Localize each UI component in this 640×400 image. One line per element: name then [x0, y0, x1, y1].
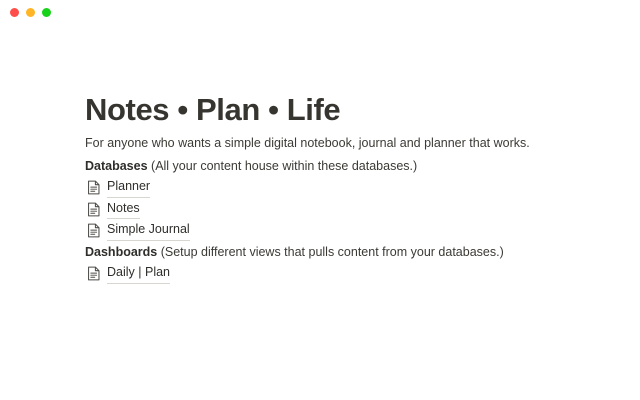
app-window: Notes • Plan • Life For anyone who wants… — [0, 0, 640, 400]
page-link-planner[interactable]: Planner — [87, 178, 150, 198]
page-link-label: Daily | Plan — [107, 264, 170, 284]
page-link-label: Notes — [107, 200, 140, 220]
document-icon — [87, 180, 101, 195]
page-subtitle: For anyone who wants a simple digital no… — [85, 134, 530, 152]
maximize-window-icon[interactable] — [42, 8, 51, 17]
section-heading-dashboards: Dashboards (Setup different views that p… — [85, 243, 504, 261]
window-controls — [10, 8, 51, 17]
document-icon — [87, 266, 101, 281]
document-icon — [87, 202, 101, 217]
section-heading-label: Databases — [85, 159, 148, 173]
page-link-simple-journal[interactable]: Simple Journal — [87, 221, 190, 241]
close-window-icon[interactable] — [10, 8, 19, 17]
page-link-label: Planner — [107, 178, 150, 198]
section-heading-description: (Setup different views that pulls conten… — [161, 245, 504, 259]
minimize-window-icon[interactable] — [26, 8, 35, 17]
document-icon — [87, 223, 101, 238]
page-link-label: Simple Journal — [107, 221, 190, 241]
page-link-notes[interactable]: Notes — [87, 200, 140, 220]
page-title: Notes • Plan • Life — [85, 92, 340, 128]
section-heading-description: (All your content house within these dat… — [151, 159, 417, 173]
section-heading-databases: Databases (All your content house within… — [85, 157, 417, 175]
section-heading-label: Dashboards — [85, 245, 157, 259]
window-titlebar — [0, 0, 640, 24]
page-link-daily-plan[interactable]: Daily | Plan — [87, 264, 170, 284]
